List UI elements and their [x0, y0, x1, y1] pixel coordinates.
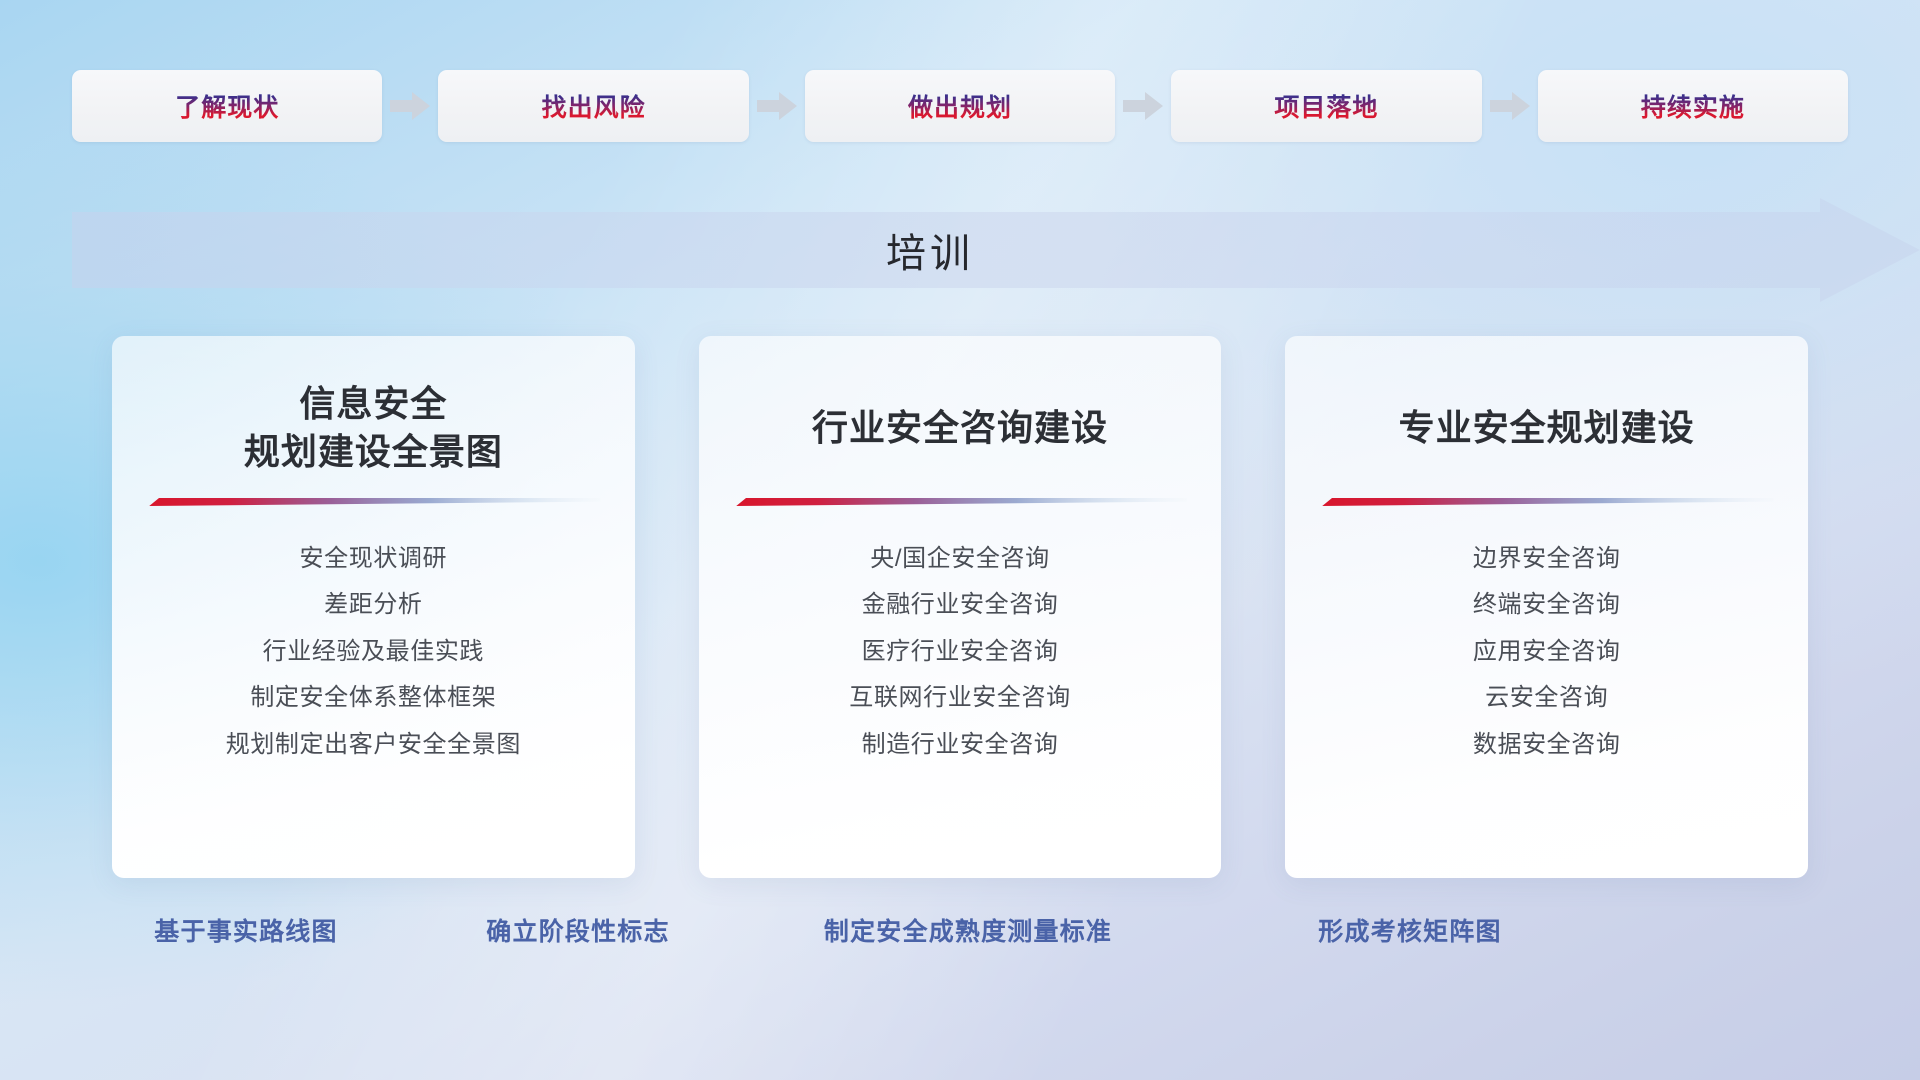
list-item: 行业经验及最佳实践: [146, 629, 601, 675]
list-item: 金融行业安全咨询: [733, 582, 1188, 628]
list-item: 数据安全咨询: [1319, 722, 1774, 768]
step-arrow-icon-1: [382, 70, 438, 142]
list-item: 规划制定出客户安全全景图: [146, 722, 601, 768]
card-row: 信息安全 规划建设全景图: [112, 336, 1808, 878]
card-divider-2: [733, 494, 1188, 510]
step-arrow-icon-2: [749, 70, 805, 142]
list-item: 云安全咨询: [1319, 675, 1774, 721]
step-label-5: 持续实施: [1641, 88, 1745, 124]
caption-1: 基于事实路线图: [154, 912, 337, 948]
step-box-5[interactable]: 持续实施: [1538, 70, 1848, 142]
list-item: 制造行业安全咨询: [733, 722, 1188, 768]
card-divider-3: [1319, 494, 1774, 510]
training-banner: 培训: [0, 198, 1920, 302]
list-item: 差距分析: [146, 582, 601, 628]
caption-3: 制定安全成熟度测量标准: [824, 912, 1112, 948]
card-title-line: 专业安全规划建设: [1399, 404, 1695, 452]
card-title-3: 专业安全规划建设: [1399, 380, 1695, 476]
feature-card-2[interactable]: 行业安全咨询建设: [699, 336, 1222, 878]
step-box-2[interactable]: 找出风险: [438, 70, 748, 142]
list-item: 终端安全咨询: [1319, 582, 1774, 628]
step-label-2: 找出风险: [542, 88, 646, 124]
caption-2: 确立阶段性标志: [486, 912, 669, 948]
card-list-1: 安全现状调研 差距分析 行业经验及最佳实践 制定安全体系整体框架 规划制定出客户…: [146, 536, 601, 768]
step-label-1: 了解现状: [175, 88, 279, 124]
banner-title: 培训: [0, 198, 1920, 302]
card-divider-1: [146, 494, 601, 510]
list-item: 制定安全体系整体框架: [146, 675, 601, 721]
caption-row: 基于事实路线图 确立阶段性标志 制定安全成熟度测量标准 形成考核矩阵图: [0, 912, 1920, 964]
list-item: 边界安全咨询: [1319, 536, 1774, 582]
step-box-1[interactable]: 了解现状: [72, 70, 382, 142]
step-arrow-icon-4: [1482, 70, 1538, 142]
list-item: 医疗行业安全咨询: [733, 629, 1188, 675]
list-item: 央/国企安全咨询: [733, 536, 1188, 582]
card-title-line: 行业安全咨询建设: [812, 404, 1108, 452]
step-box-4[interactable]: 项目落地: [1171, 70, 1481, 142]
process-step-row: 了解现状 找出风险 做出规划 项目落地: [72, 70, 1848, 142]
card-title-1: 信息安全 规划建设全景图: [244, 380, 503, 476]
card-title-2: 行业安全咨询建设: [812, 380, 1108, 476]
card-list-3: 边界安全咨询 终端安全咨询 应用安全咨询 云安全咨询 数据安全咨询: [1319, 536, 1774, 768]
step-label-4: 项目落地: [1274, 88, 1378, 124]
list-item: 安全现状调研: [146, 536, 601, 582]
card-list-2: 央/国企安全咨询 金融行业安全咨询 医疗行业安全咨询 互联网行业安全咨询 制造行…: [733, 536, 1188, 768]
slide-canvas: 了解现状 找出风险 做出规划 项目落地: [0, 0, 1920, 1080]
step-label-3: 做出规划: [908, 88, 1012, 124]
list-item: 互联网行业安全咨询: [733, 675, 1188, 721]
feature-card-3[interactable]: 专业安全规划建设: [1285, 336, 1808, 878]
caption-4: 形成考核矩阵图: [1318, 912, 1501, 948]
step-box-3[interactable]: 做出规划: [805, 70, 1115, 142]
feature-card-1[interactable]: 信息安全 规划建设全景图: [112, 336, 635, 878]
card-title-line: 信息安全: [244, 380, 503, 428]
list-item: 应用安全咨询: [1319, 629, 1774, 675]
card-title-line: 规划建设全景图: [244, 428, 503, 476]
step-arrow-icon-3: [1115, 70, 1171, 142]
